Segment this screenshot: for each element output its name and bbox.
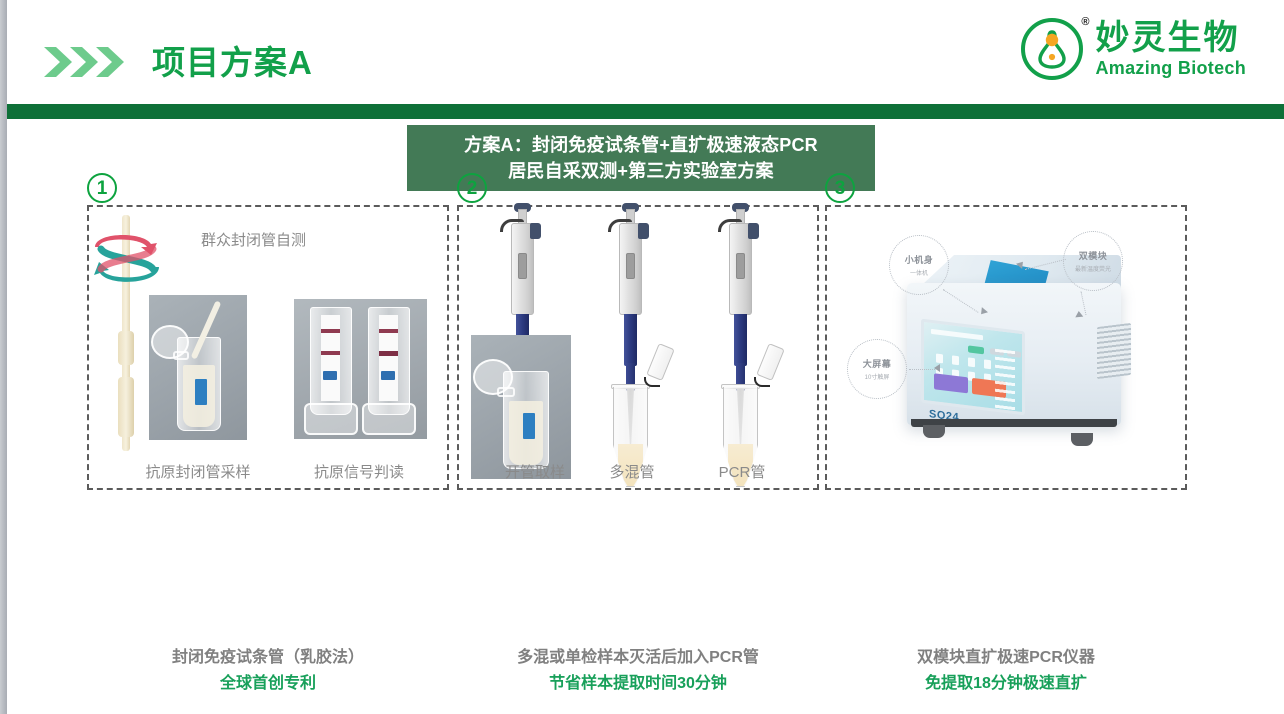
step-2-caption: 多混或单检样本灭活后加入PCR管 节省样本提取时间30分钟 — [457, 645, 819, 696]
registered-trademark-symbol: ® — [1081, 16, 1089, 28]
logo-name-cn: 妙灵生物 — [1095, 21, 1246, 55]
page-title: 项目方案A — [152, 36, 313, 84]
step-2-caption-main: 多混或单检样本灭活后加入PCR管 — [457, 645, 819, 671]
step-1-frame: 群众封闭管自测 — [87, 205, 449, 490]
step-2-caption-sub: 节省样本提取时间30分钟 — [457, 671, 819, 697]
dual-module-pcr-instrument-illustration: SQ24 小机身 一体机 双模块 最新温度荧光 — [875, 247, 1143, 465]
step-3-caption-main: 双模块直扩极速PCR仪器 — [825, 645, 1187, 671]
callout-2-title: 双模块 — [1079, 249, 1108, 262]
step-1-thumb-1-label: 抗原封闭管采样 — [133, 461, 263, 482]
step-1-number-badge: 1 — [87, 173, 117, 203]
step-1-frame-title: 群众封闭管自测 — [201, 229, 447, 250]
micropipette-2-illustration — [607, 201, 653, 461]
step-2-frame: 开管取样 多混管 — [457, 205, 819, 490]
swab-in-collection-tube-photo — [149, 295, 247, 440]
rotation-arrows-icon — [91, 229, 163, 291]
step-2-thumb-2-label: 多混管 — [571, 461, 693, 482]
header-divider-bar — [7, 104, 1284, 119]
two-antigen-strip-tubes-photo — [294, 299, 427, 439]
step-3-caption-sub: 免提取18分钟极速直扩 — [825, 671, 1187, 697]
step-3-frame: SQ24 小机身 一体机 双模块 最新温度荧光 — [825, 205, 1187, 490]
steps-stage: 1 群众封闭管自测 — [7, 119, 1284, 714]
step-1-thumb-2-label: 抗原信号判读 — [279, 461, 439, 482]
company-logo: ® 妙灵生物 Amazing Biotech — [1019, 16, 1246, 82]
step-3-caption: 双模块直扩极速PCR仪器 免提取18分钟极速直扩 — [825, 645, 1187, 696]
step-1-caption: 封闭免疫试条管（乳胶法） 全球首创专利 — [87, 645, 449, 696]
callout-1-subtitle: 一体机 — [910, 268, 928, 277]
callout-3-subtitle: 10寸触屏 — [865, 372, 890, 381]
step-2-number-badge: 2 — [457, 173, 487, 203]
flask-circle-logo-icon: ® — [1019, 16, 1085, 82]
window-left-edge-strip — [0, 0, 7, 714]
callout-1-title: 小机身 — [905, 253, 934, 266]
page-header: 项目方案A ® 妙灵生物 Amazing Biotech — [7, 0, 1284, 104]
logo-name-en: Amazing Biotech — [1095, 59, 1246, 77]
step-2: 2 开管取样 — [457, 205, 819, 490]
callout-2-subtitle: 最新温度荧光 — [1075, 264, 1111, 273]
step-3: 3 — [825, 205, 1187, 490]
step-1: 1 群众封闭管自测 — [87, 205, 449, 490]
step-2-thumb-3-label: PCR管 — [681, 461, 803, 482]
step-1-caption-sub: 全球首创专利 — [87, 671, 449, 697]
triple-chevron-right-icon — [42, 45, 127, 79]
micropipette-3-illustration — [717, 201, 763, 461]
step-1-caption-main: 封闭免疫试条管（乳胶法） — [87, 645, 449, 671]
callout-3-title: 大屏幕 — [863, 357, 892, 370]
vent-grille — [1097, 323, 1131, 379]
step-3-number-badge: 3 — [825, 173, 855, 203]
pipette-into-open-collection-tube-photo — [471, 335, 571, 479]
